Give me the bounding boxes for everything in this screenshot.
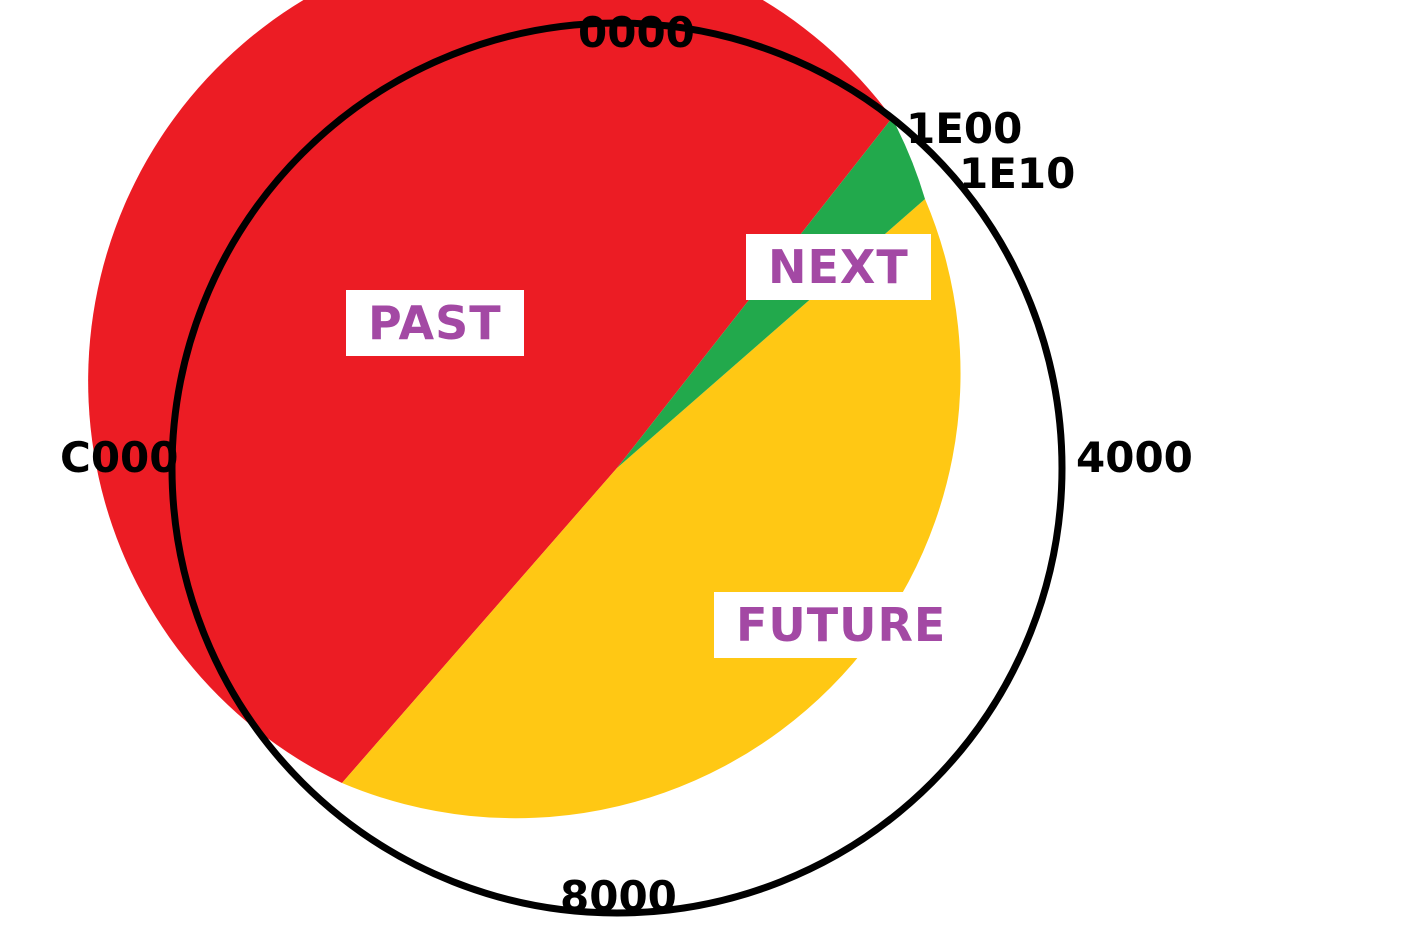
sequence-wheel-svg: [0, 0, 1404, 949]
ring-label-4000: 4000: [1076, 437, 1193, 479]
sector-label-future: FUTURE: [714, 592, 968, 658]
ring-label-0000: 0000: [578, 12, 695, 54]
sector-label-past: PAST: [346, 290, 524, 356]
wheel-diagram-canvas: 0000 1E00 1E10 4000 8000 C000 PAST NEXT …: [0, 0, 1404, 949]
ring-label-1E00: 1E00: [906, 108, 1022, 150]
ring-label-C000: C000: [60, 437, 179, 479]
ring-label-8000: 8000: [560, 876, 677, 918]
sector-label-next: NEXT: [746, 234, 931, 300]
ring-label-1E10: 1E10: [959, 153, 1075, 195]
